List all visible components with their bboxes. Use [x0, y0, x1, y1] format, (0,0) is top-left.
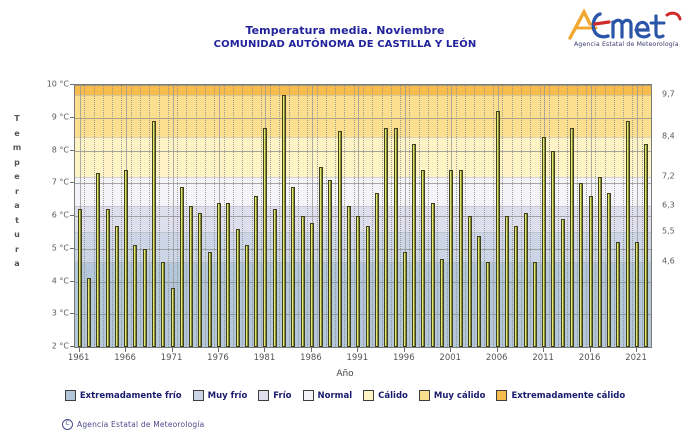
bar: [366, 226, 370, 347]
legend-swatch: [303, 390, 314, 401]
grid-line-vertical: [419, 85, 420, 347]
bar: [551, 151, 555, 348]
bar: [282, 95, 286, 347]
grid-line-vertical: [437, 85, 438, 347]
bar: [106, 209, 110, 347]
y-axis-tick-label: 8 °C: [35, 145, 69, 154]
bar-highlight: [441, 260, 442, 346]
y-axis-tick-mark: [70, 84, 74, 85]
bar-highlight: [636, 243, 637, 346]
bar: [468, 216, 472, 347]
y-axis-tick-mark: [70, 117, 74, 118]
bar: [328, 180, 332, 347]
bar: [403, 252, 407, 347]
x-axis-tick-label: 1996: [393, 353, 415, 363]
x-axis-tick-label: 2001: [439, 353, 461, 363]
bar-highlight: [608, 194, 609, 346]
grid-line-vertical: [372, 85, 373, 347]
x-axis-tick-mark: [636, 348, 637, 352]
bar: [143, 249, 147, 347]
grid-line-vertical: [447, 85, 448, 347]
bar: [254, 196, 258, 347]
grid-line-vertical: [400, 85, 401, 347]
bar: [616, 242, 620, 347]
bar: [171, 288, 175, 347]
bar: [301, 216, 305, 347]
bar: [440, 259, 444, 347]
bar: [589, 196, 593, 347]
grid-line-vertical: [465, 85, 466, 347]
bar-highlight: [478, 237, 479, 346]
grid-line-vertical: [233, 85, 234, 347]
grid-line-vertical: [279, 85, 280, 347]
bar: [338, 131, 342, 347]
bar: [226, 203, 230, 347]
bar-highlight: [590, 197, 591, 346]
bar-highlight: [302, 217, 303, 346]
grid-line-vertical: [391, 85, 392, 347]
bar-highlight: [543, 138, 544, 346]
bar: [133, 245, 137, 347]
bar-highlight: [292, 188, 293, 346]
legend-swatch: [65, 390, 76, 401]
bar-highlight: [97, 174, 98, 346]
y-axis-title-letter: m: [8, 141, 26, 156]
bar: [384, 128, 388, 347]
y-axis-title-letter: T: [8, 112, 26, 127]
grid-line-vertical: [549, 85, 550, 347]
legend-item: Muy frío: [193, 390, 248, 401]
x-axis-tick-mark: [590, 348, 591, 352]
legend-item: Muy cálido: [419, 390, 486, 401]
aemet-logo-subtitle: Agencia Estatal de Meteorología: [574, 41, 686, 48]
chart-canvas: [74, 84, 652, 348]
bar: [208, 252, 212, 347]
grid-line-vertical: [577, 85, 578, 347]
bar-highlight: [311, 224, 312, 346]
bar-highlight: [144, 250, 145, 346]
bar: [152, 121, 156, 347]
grid-line-vertical: [632, 85, 633, 347]
grid-line-vertical: [567, 85, 568, 347]
bar-highlight: [339, 132, 340, 346]
grid-line-vertical: [270, 85, 271, 347]
legend-label: Cálido: [378, 391, 408, 401]
legend-item: Normal: [303, 390, 353, 401]
grid-line-vertical: [326, 85, 327, 347]
bar-highlight: [404, 253, 405, 346]
bar-highlight: [487, 263, 488, 346]
y-axis-title-letter: e: [8, 127, 26, 142]
grid-line-vertical: [363, 85, 364, 347]
y-axis-title-letter: t: [8, 214, 26, 229]
bar-highlight: [367, 227, 368, 346]
grid-line-vertical: [94, 85, 95, 347]
bar-highlight: [320, 168, 321, 346]
y-axis-tick-label: 2 °C: [35, 342, 69, 351]
grid-line-vertical: [493, 85, 494, 347]
bar-highlight: [645, 145, 646, 346]
x-axis-tick-mark: [543, 348, 544, 352]
y-axis-title-letter: r: [8, 185, 26, 200]
legend-item: Extremadamente frío: [65, 390, 182, 401]
bar-highlight: [218, 204, 219, 346]
bar-highlight: [413, 145, 414, 346]
grid-line-vertical: [205, 85, 206, 347]
x-axis-tick-mark: [404, 348, 405, 352]
bar-highlight: [116, 227, 117, 346]
bar-highlight: [274, 210, 275, 346]
bar: [542, 137, 546, 347]
bar: [626, 121, 630, 347]
bar: [96, 173, 100, 347]
bar-highlight: [329, 181, 330, 346]
chart-legend: Extremadamente fríoMuy fríoFríoNormalCál…: [0, 390, 690, 401]
y-axis-tick-mark: [70, 248, 74, 249]
grid-line-vertical: [484, 85, 485, 347]
grid-line-vertical: [224, 85, 225, 347]
x-axis-tick-mark: [264, 348, 265, 352]
bar-highlight: [395, 129, 396, 346]
bar-highlight: [134, 246, 135, 346]
y-axis-tick-label: 9 °C: [35, 112, 69, 121]
bar: [644, 144, 648, 347]
x-axis-tick-label: 1971: [161, 353, 183, 363]
bar: [394, 128, 398, 347]
bar-highlight: [209, 253, 210, 346]
y-axis-tick-label: 3 °C: [35, 309, 69, 318]
bar: [561, 219, 565, 347]
legend-swatch: [258, 390, 269, 401]
x-axis-tick-mark: [450, 348, 451, 352]
grid-line-vertical: [84, 85, 85, 347]
bar: [78, 209, 82, 347]
x-axis-tick-mark: [218, 348, 219, 352]
bar: [412, 144, 416, 347]
grid-line-vertical: [289, 85, 290, 347]
y-axis-title-letter: r: [8, 243, 26, 258]
bar-highlight: [348, 207, 349, 346]
bar: [310, 223, 314, 347]
chart-plot-area: 2 °C3 °C4 °C5 °C6 °C7 °C8 °C9 °C10 °C4,6…: [74, 84, 652, 348]
grid-line-vertical: [242, 85, 243, 347]
grid-line-vertical: [298, 85, 299, 347]
y-axis-tick-mark: [70, 281, 74, 282]
x-axis-tick-label: 2011: [532, 353, 554, 363]
grid-line-vertical: [382, 85, 383, 347]
bar: [431, 203, 435, 347]
bar-highlight: [460, 171, 461, 346]
bar: [524, 213, 528, 347]
bar-highlight: [125, 171, 126, 346]
grid-line-vertical: [512, 85, 513, 347]
x-axis-tick-mark: [125, 348, 126, 352]
grid-line-vertical: [159, 85, 160, 347]
bar-highlight: [88, 279, 89, 346]
bar: [319, 167, 323, 347]
bar-highlight: [237, 230, 238, 346]
grid-line-vertical: [474, 85, 475, 347]
bar-highlight: [617, 243, 618, 346]
grid-line-vertical: [502, 85, 503, 347]
x-axis-title: Año: [0, 369, 690, 379]
grid-line-vertical: [623, 85, 624, 347]
bar: [263, 128, 267, 347]
bar: [514, 226, 518, 347]
right-axis-tick-label: 7,2: [662, 171, 675, 180]
bar-highlight: [515, 227, 516, 346]
bar: [161, 262, 165, 347]
y-axis-tick-label: 6 °C: [35, 211, 69, 220]
legend-swatch: [193, 390, 204, 401]
grid-line-vertical: [214, 85, 215, 347]
grid-line-vertical: [642, 85, 643, 347]
bar-highlight: [450, 171, 451, 346]
bar: [115, 226, 119, 347]
grid-line-vertical: [428, 85, 429, 347]
legend-label: Muy frío: [208, 391, 248, 401]
bar: [87, 278, 91, 347]
legend-item: Frío: [258, 390, 291, 401]
aemet-logo: Agencia Estatal de Meteorología: [564, 8, 684, 54]
grid-line-vertical: [530, 85, 531, 347]
bar: [635, 242, 639, 347]
bar: [449, 170, 453, 347]
grid-line-vertical: [261, 85, 262, 347]
grid-line-vertical: [196, 85, 197, 347]
y-axis-tick-mark: [70, 150, 74, 151]
grid-line-vertical: [186, 85, 187, 347]
x-axis-tick-label: 2006: [486, 353, 508, 363]
grid-line-vertical: [317, 85, 318, 347]
bar: [505, 216, 509, 347]
grid-line-vertical: [131, 85, 132, 347]
grid-line-vertical: [307, 85, 308, 347]
bar: [347, 206, 351, 347]
legend-label: Normal: [318, 391, 353, 401]
bar-highlight: [562, 220, 563, 346]
grid-line-vertical: [140, 85, 141, 347]
bar-highlight: [255, 197, 256, 346]
bar-highlight: [571, 129, 572, 346]
bar: [607, 193, 611, 347]
bar-highlight: [190, 207, 191, 346]
bar-highlight: [246, 246, 247, 346]
bar-highlight: [534, 263, 535, 346]
y-axis-tick-mark: [70, 215, 74, 216]
bar-highlight: [627, 122, 628, 346]
x-axis-tick-label: 1976: [207, 353, 229, 363]
legend-swatch: [419, 390, 430, 401]
bar-highlight: [181, 188, 182, 346]
bar: [180, 187, 184, 347]
grid-line-vertical: [252, 85, 253, 347]
grid-line-vertical: [354, 85, 355, 347]
bar: [189, 206, 193, 347]
right-axis-tick-label: 4,6: [662, 256, 675, 265]
right-axis-tick-label: 6,3: [662, 201, 675, 210]
x-axis-tick-mark: [79, 348, 80, 352]
bar: [579, 183, 583, 347]
y-axis-title-letter: a: [8, 257, 26, 272]
bar-highlight: [172, 289, 173, 346]
grid-line-vertical: [149, 85, 150, 347]
bar-highlight: [199, 214, 200, 346]
bar: [245, 245, 249, 347]
x-axis-tick-mark: [497, 348, 498, 352]
right-axis-tick-label: 8,4: [662, 132, 675, 141]
bar-highlight: [357, 217, 358, 346]
grid-line-vertical: [586, 85, 587, 347]
bar: [198, 213, 202, 347]
grid-line-vertical: [456, 85, 457, 347]
x-axis-tick-label: 1961: [68, 353, 90, 363]
y-axis-title-letter: e: [8, 170, 26, 185]
bar-highlight: [283, 96, 284, 346]
bar-highlight: [153, 122, 154, 346]
x-axis-tick-mark: [311, 348, 312, 352]
x-axis-tick-mark: [357, 348, 358, 352]
y-axis-title-letter: p: [8, 156, 26, 171]
bar-highlight: [107, 210, 108, 346]
grid-line-vertical: [614, 85, 615, 347]
y-axis-title: Temperatura: [8, 112, 26, 272]
y-axis-tick-label: 10 °C: [35, 80, 69, 89]
grid-line-vertical: [540, 85, 541, 347]
x-axis-tick-label: 1966: [114, 353, 136, 363]
footer: C Agencia Estatal de Meteorología: [62, 419, 204, 430]
bar-highlight: [497, 112, 498, 346]
bar: [124, 170, 128, 347]
bar-highlight: [376, 194, 377, 346]
bar: [421, 170, 425, 347]
x-axis-tick-label: 1981: [254, 353, 276, 363]
grid-line-vertical: [605, 85, 606, 347]
legend-item: Extremadamente cálido: [496, 390, 625, 401]
bar-highlight: [525, 214, 526, 346]
grid-line-vertical: [558, 85, 559, 347]
bar: [496, 111, 500, 347]
bar: [477, 236, 481, 347]
y-axis-title-letter: a: [8, 199, 26, 214]
bar-highlight: [79, 210, 80, 346]
y-axis-tick-mark: [70, 346, 74, 347]
bar: [570, 128, 574, 347]
bar-highlight: [580, 184, 581, 346]
bar-highlight: [264, 129, 265, 346]
bar: [486, 262, 490, 347]
bar: [459, 170, 463, 347]
copyright-icon: C: [62, 419, 73, 430]
y-axis-title-letter: u: [8, 228, 26, 243]
x-axis-tick-mark: [172, 348, 173, 352]
grid-line-vertical: [344, 85, 345, 347]
bar-highlight: [422, 171, 423, 346]
bar-highlight: [227, 204, 228, 346]
x-axis-tick-label: 1991: [347, 353, 369, 363]
legend-label: Extremadamente cálido: [511, 391, 625, 401]
bar: [236, 229, 240, 347]
bar-highlight: [552, 152, 553, 347]
grid-line-vertical: [177, 85, 178, 347]
bar-highlight: [432, 204, 433, 346]
y-axis-tick-label: 4 °C: [35, 276, 69, 285]
y-axis-tick-label: 5 °C: [35, 243, 69, 252]
bar: [217, 203, 221, 347]
bar: [533, 262, 537, 347]
bar-highlight: [385, 129, 386, 346]
aemet-logo-icon: [564, 8, 684, 42]
grid-line-vertical: [168, 85, 169, 347]
legend-label: Extremadamente frío: [80, 391, 182, 401]
bar-highlight: [599, 178, 600, 346]
legend-item: Cálido: [363, 390, 408, 401]
legend-label: Frío: [273, 391, 291, 401]
footer-text: Agencia Estatal de Meteorología: [77, 420, 204, 429]
y-axis-tick-label: 7 °C: [35, 178, 69, 187]
legend-label: Muy cálido: [434, 391, 486, 401]
grid-line-vertical: [121, 85, 122, 347]
bar-highlight: [506, 217, 507, 346]
legend-swatch: [363, 390, 374, 401]
x-axis-tick-label: 1986: [300, 353, 322, 363]
legend-swatch: [496, 390, 507, 401]
y-axis-tick-mark: [70, 182, 74, 183]
bar: [598, 177, 602, 347]
x-axis-tick-label: 2016: [579, 353, 601, 363]
grid-line-vertical: [521, 85, 522, 347]
bar: [291, 187, 295, 347]
right-axis-tick-label: 9,7: [662, 89, 675, 98]
bar: [375, 193, 379, 347]
bar: [273, 209, 277, 347]
grid-line-horizontal: [75, 347, 651, 348]
grid-line-vertical: [595, 85, 596, 347]
grid-line-vertical: [103, 85, 104, 347]
bar: [356, 216, 360, 347]
bar-highlight: [469, 217, 470, 346]
grid-line-vertical: [335, 85, 336, 347]
grid-line-vertical: [409, 85, 410, 347]
x-axis-tick-label: 2021: [625, 353, 647, 363]
right-axis-tick-label: 5,5: [662, 227, 675, 236]
y-axis-tick-mark: [70, 313, 74, 314]
bar-highlight: [162, 263, 163, 346]
grid-line-vertical: [112, 85, 113, 347]
